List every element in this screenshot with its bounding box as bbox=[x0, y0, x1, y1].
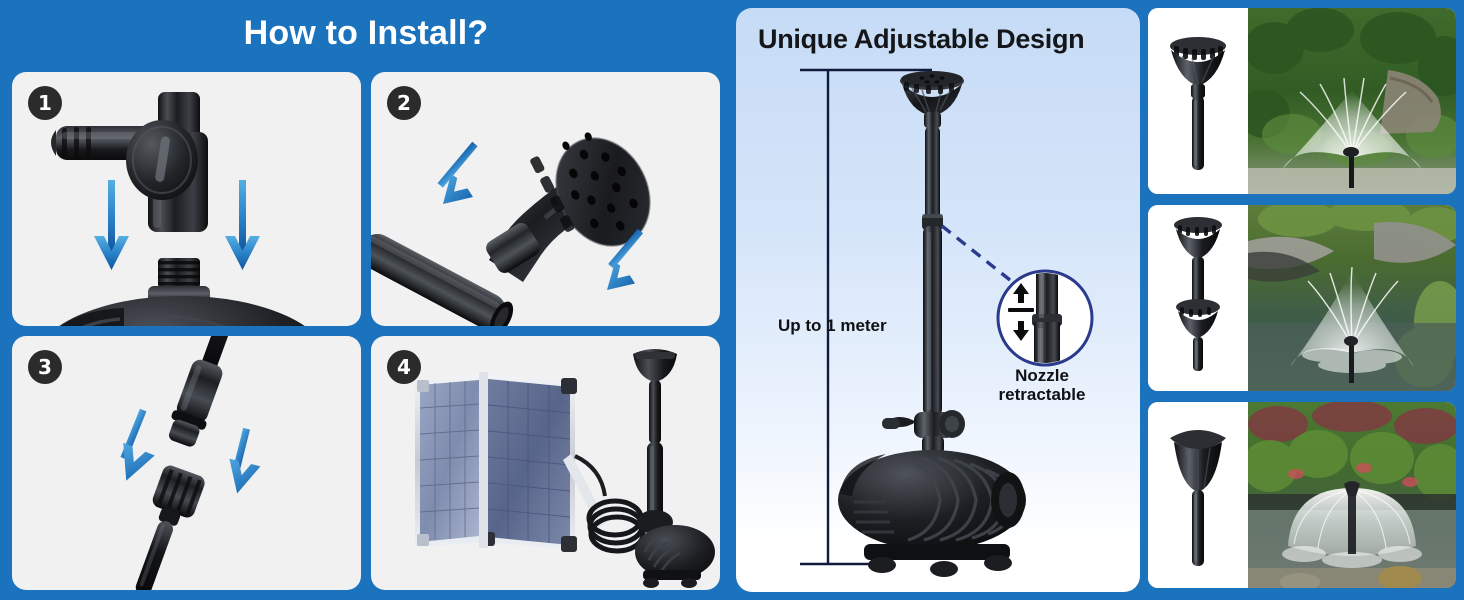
install-steps-grid: 1 bbox=[12, 72, 720, 590]
down-arrow-right bbox=[222, 428, 261, 497]
pattern-row-3 bbox=[1148, 402, 1456, 588]
install-title: How to Install? bbox=[0, 14, 732, 53]
install-step-3: 3 bbox=[12, 336, 361, 590]
step-1-illustration bbox=[12, 72, 361, 326]
step-number-badge: 4 bbox=[387, 350, 421, 384]
fountain-photo-2 bbox=[1248, 205, 1456, 391]
callout-leader-line bbox=[942, 226, 1010, 280]
install-step-1: 1 bbox=[12, 72, 361, 326]
diagonal-arrow-upper bbox=[438, 142, 478, 204]
install-step-2: 2 bbox=[371, 72, 720, 326]
flow-control-valve bbox=[882, 410, 965, 454]
nozzle-product-shot-3 bbox=[1148, 402, 1248, 588]
step-number-badge: 1 bbox=[28, 86, 62, 120]
unique-adjustable-design-panel: Unique Adjustable Design bbox=[736, 8, 1140, 592]
fountain-nozzle-head bbox=[900, 71, 964, 128]
step-4-illustration bbox=[371, 336, 720, 590]
down-arrow-left bbox=[110, 409, 154, 487]
how-to-install-panel: How to Install? 1 bbox=[0, 0, 732, 600]
pattern-row-2 bbox=[1148, 205, 1456, 391]
step-2-illustration bbox=[371, 72, 720, 326]
pattern-row-1 bbox=[1148, 8, 1456, 194]
nozzle-product-shot-2 bbox=[1148, 205, 1248, 391]
fountain-photo-1 bbox=[1248, 8, 1456, 194]
step-number-badge: 3 bbox=[28, 350, 62, 384]
fountain-pattern-strip bbox=[1148, 8, 1456, 592]
step-3-illustration bbox=[12, 336, 361, 590]
callout-label: Nozzle retractable bbox=[972, 366, 1112, 404]
adjustable-fountain-illustration bbox=[736, 8, 1140, 592]
step-number-badge: 2 bbox=[387, 86, 421, 120]
measurement-label: Up to 1 meter bbox=[778, 316, 887, 336]
down-arrow-left bbox=[94, 180, 129, 270]
install-step-4: 4 bbox=[371, 336, 720, 590]
infographic-root: How to Install? 1 bbox=[0, 0, 1464, 600]
nozzle-product-shot-1 bbox=[1148, 8, 1248, 194]
submersible-pump-body bbox=[838, 450, 1026, 577]
down-arrow-right bbox=[225, 180, 260, 270]
callout-label-line1: Nozzle bbox=[972, 366, 1112, 385]
fountain-photo-3 bbox=[1248, 402, 1456, 588]
callout-label-line2: retractable bbox=[972, 385, 1112, 404]
nozzle-retractable-callout bbox=[998, 270, 1092, 368]
